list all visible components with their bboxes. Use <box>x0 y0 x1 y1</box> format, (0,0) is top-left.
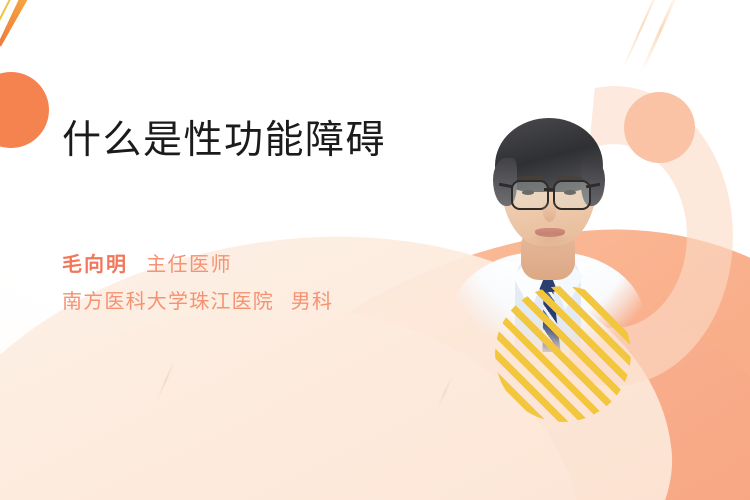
byline-row-name: 毛向明 主任医师 <box>62 250 333 281</box>
glasses-bridge <box>544 188 555 191</box>
hospital-name: 南方医科大学珠江医院 <box>62 291 274 313</box>
chin-shadow <box>525 234 575 254</box>
department-name: 男科 <box>291 291 333 313</box>
doctor-title: 主任医师 <box>146 254 232 276</box>
byline-row-affiliation: 南方医科大学珠江医院 男科 <box>62 287 333 318</box>
portrait-cluster <box>435 78 750 408</box>
page-title: 什么是性功能障碍 <box>62 118 386 165</box>
nose <box>543 200 556 222</box>
doctor-portrait-photo <box>453 96 639 282</box>
yellow-striped-disc-icon <box>495 286 631 422</box>
byline: 毛向明 主任医师 南方医科大学珠江医院 男科 <box>62 250 333 318</box>
promo-card: 什么是性功能障碍 毛向明 主任医师 南方医科大学珠江医院 男科 <box>0 0 750 500</box>
doctor-name: 毛向明 <box>62 254 128 276</box>
